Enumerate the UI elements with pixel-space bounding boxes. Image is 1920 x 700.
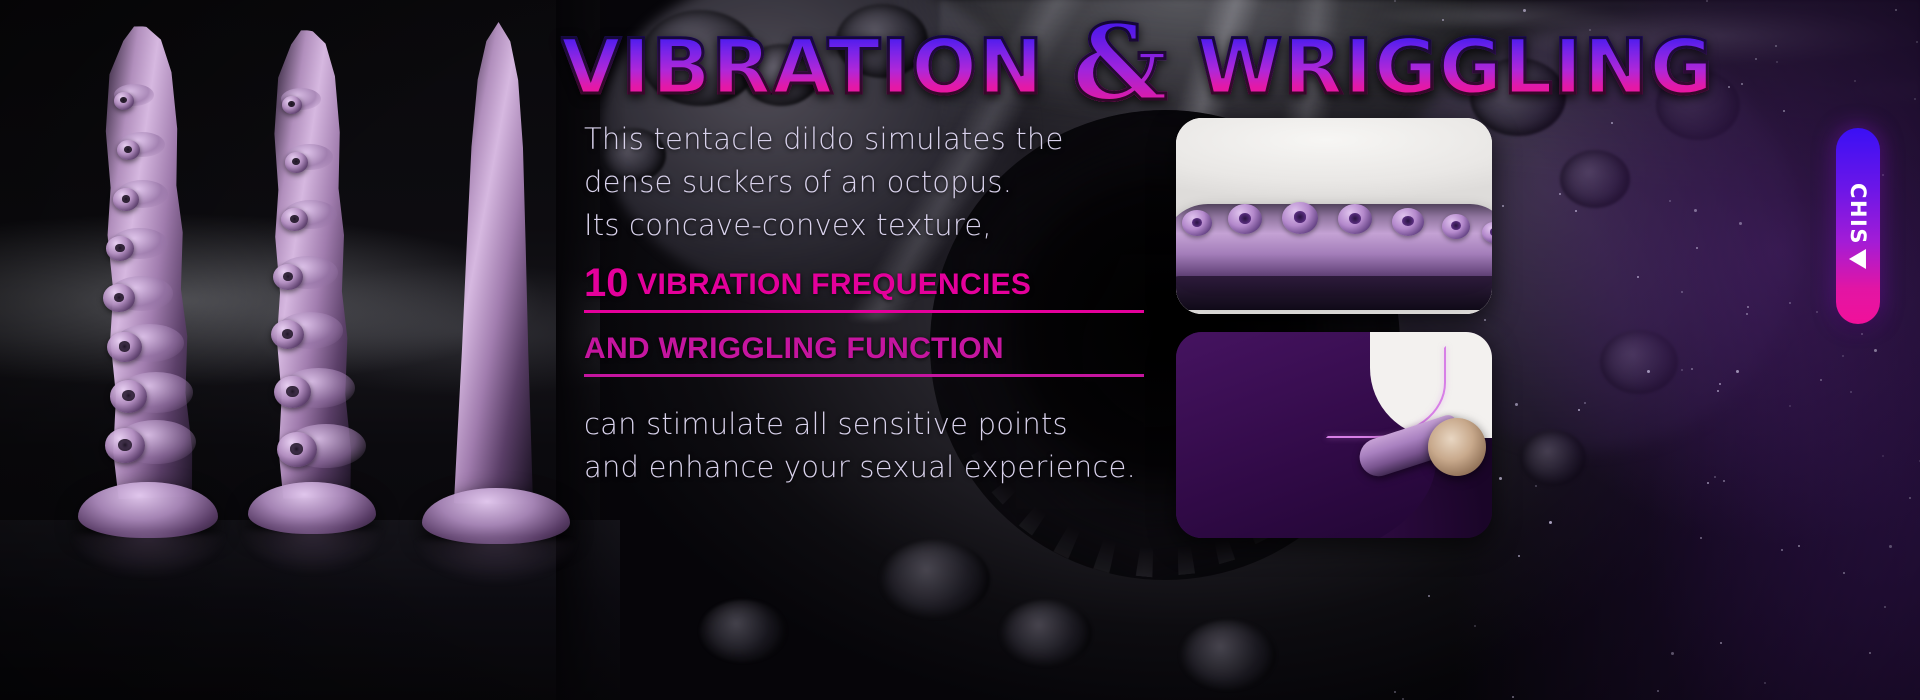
tentacle-side-view bbox=[248, 30, 406, 590]
headline-text: VIBRATION & WRIGGLING bbox=[561, 32, 1714, 102]
sucker-knob bbox=[1442, 214, 1470, 239]
highlight-1-number: 10 bbox=[584, 261, 629, 305]
page-title: VIBRATION & WRIGGLING bbox=[572, 24, 1902, 110]
suction-bump bbox=[282, 96, 302, 114]
floor-reflection bbox=[241, 530, 383, 574]
product-base bbox=[78, 482, 218, 538]
chisa-logo-inner: CHIS bbox=[1846, 183, 1870, 269]
highlight-2-text: AND WRIGGLING FUNCTION bbox=[584, 329, 1004, 369]
floor-reflection bbox=[415, 540, 577, 584]
highlight-1-text: 10 VIBRATION FREQUENCIES bbox=[584, 263, 1031, 305]
suction-bump bbox=[274, 376, 311, 408]
chisa-logo[interactable]: CHIS bbox=[1836, 128, 1880, 324]
copy-closing-line-1: can stimulate all sensitive points bbox=[584, 403, 1144, 446]
copy-closing-line-2: and enhance your sexual experience. bbox=[584, 446, 1144, 489]
chisa-logo-text: CHIS bbox=[1846, 183, 1870, 245]
suction-bump bbox=[113, 188, 139, 211]
suction-bump bbox=[277, 432, 317, 467]
tentacle-front-view bbox=[78, 26, 248, 594]
highlight-row-2: AND WRIGGLING FUNCTION bbox=[584, 329, 1144, 377]
highlight-1-label: VIBRATION FREQUENCIES bbox=[637, 268, 1031, 301]
product-shaft bbox=[447, 22, 544, 505]
toy-suction-disc bbox=[1428, 418, 1486, 476]
floor-reflection bbox=[71, 534, 225, 578]
suction-bump bbox=[107, 332, 141, 362]
suction-bump bbox=[271, 320, 304, 349]
headline-part1: VIBRATION bbox=[561, 22, 1044, 111]
suction-bump bbox=[285, 152, 308, 173]
copy-line-2: dense suckers of an octopus. bbox=[584, 161, 1144, 204]
suction-bump bbox=[103, 284, 134, 312]
suction-bump bbox=[110, 380, 147, 413]
highlight-row-1: 10 VIBRATION FREQUENCIES bbox=[584, 263, 1144, 313]
suction-bump bbox=[281, 208, 308, 231]
product-banner: VIBRATION & WRIGGLING This tentacle dild… bbox=[0, 0, 1920, 700]
copy-line-3: Its concave-convex texture, bbox=[584, 204, 1144, 247]
triangle-icon bbox=[1850, 249, 1867, 269]
copy-line-1: This tentacle dildo simulates the bbox=[584, 118, 1144, 161]
suction-bump bbox=[114, 92, 134, 110]
product-card-demo bbox=[1176, 332, 1492, 538]
suction-bump bbox=[117, 140, 140, 160]
sucker-knob bbox=[1228, 204, 1262, 234]
headline-part2: WRIGGLING bbox=[1197, 22, 1714, 111]
sucker-knob bbox=[1392, 208, 1424, 236]
sucker-knob bbox=[1282, 202, 1318, 234]
tentacle-tube-shadow bbox=[1176, 276, 1492, 310]
ampersand-icon: & bbox=[1072, 1, 1169, 124]
sucker-knob bbox=[1338, 204, 1372, 234]
copy-block: This tentacle dildo simulates the dense … bbox=[584, 118, 1144, 489]
product-base bbox=[422, 488, 570, 544]
product-base bbox=[248, 482, 376, 534]
product-card-texture bbox=[1176, 118, 1492, 314]
highlight-2-label: AND WRIGGLING FUNCTION bbox=[584, 332, 1004, 365]
